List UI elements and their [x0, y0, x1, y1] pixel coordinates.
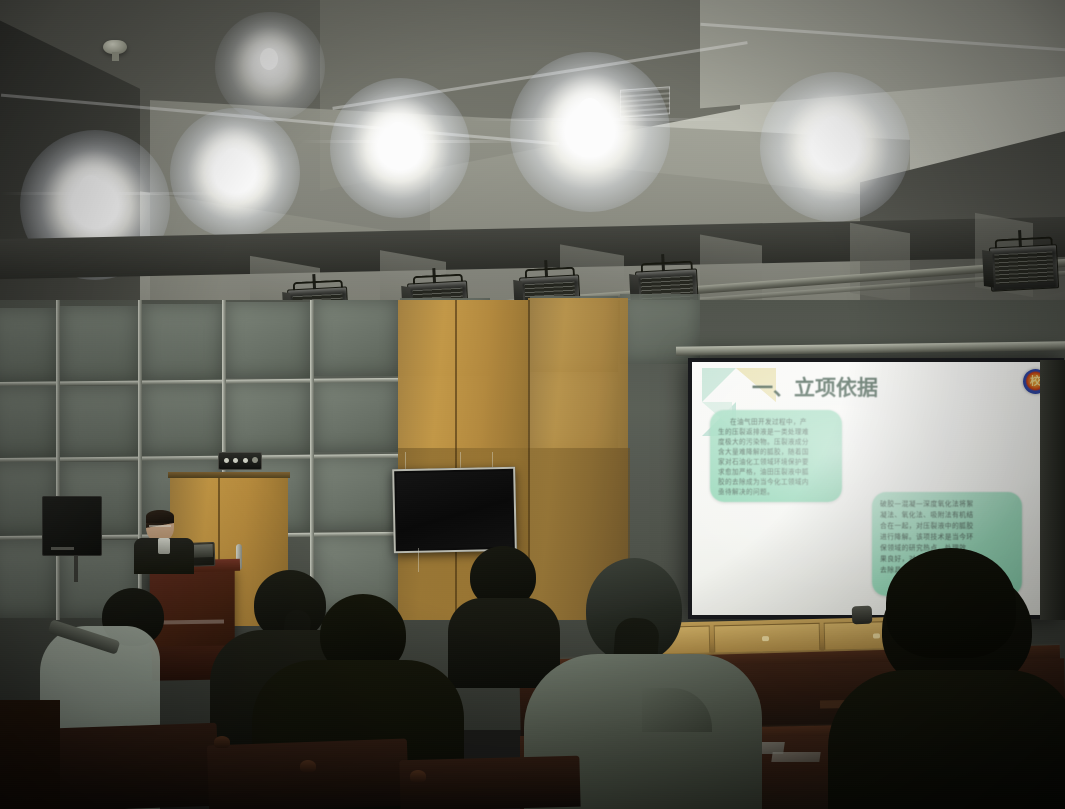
right-side-wall [1040, 360, 1065, 620]
acoustic-panel [142, 384, 222, 456]
smoke-detector-stem [112, 52, 119, 61]
presenter [134, 510, 194, 570]
seat-knob [214, 736, 230, 748]
ceiling-light-3-core [386, 122, 410, 154]
acoustic-panel [60, 306, 138, 382]
slide-text-line: 家对石油化工领域环境保护要 [718, 457, 834, 467]
acoustic-panel [142, 304, 222, 380]
paper-sheet [771, 752, 820, 762]
tv-wire-bottom [418, 548, 419, 572]
slide-text-line: 进行降解。该项技术是当今环 [880, 532, 1014, 543]
slide-text-line: 在油气田开发过程中，产 [718, 417, 834, 427]
ceiling-vent [620, 86, 670, 117]
slide-text-line: 破胶—混凝—深度氧化法将絮 [880, 499, 1014, 510]
acoustic-panel [0, 386, 56, 458]
ceiling-light-5-core [820, 116, 846, 150]
seat-back [207, 739, 409, 809]
ceiling-light-6-core [260, 48, 278, 70]
wall-control-panel[interactable] [218, 452, 262, 470]
slide-text-line: 含大量难降解的胍胶，随着国 [718, 447, 834, 457]
acoustic-panel [226, 302, 310, 378]
acoustic-panel [314, 300, 398, 376]
slide-text-line: 凝法、氧化法、吸附法有机结 [880, 510, 1014, 521]
wall-trim [56, 300, 60, 620]
conference-hall-photo: 一、立项依据 校 在油气田开发过程中，产 生的压裂返排液是一类处理难 度极大的污… [0, 0, 1065, 809]
drawer-knob[interactable] [762, 636, 769, 641]
control-indicator [224, 458, 229, 463]
slide-text-line: 度极大的污染物。压裂液成分 [718, 437, 834, 447]
audience-head-occluding-screen [886, 548, 1016, 658]
speaker-badge [51, 547, 74, 550]
slide-text-line: 胶的去除成为当今化工领域内 [718, 477, 834, 487]
acoustic-panel [314, 456, 398, 530]
ceiling-light-4-core [576, 98, 604, 136]
wall-mounted-tv[interactable] [392, 467, 517, 554]
acoustic-panel [314, 380, 398, 452]
slide-text-line: 亟待解决的问题。 [718, 487, 834, 497]
slide-textbox-background: 在油气田开发过程中，产 生的压裂返排液是一类处理难 度极大的污染物。压裂液成分 … [710, 410, 842, 502]
control-indicator [233, 458, 238, 463]
control-indicator [252, 457, 258, 463]
slide-title: 一、立项依据 [752, 372, 878, 402]
control-indicator [243, 458, 248, 463]
stage-light-5-body [989, 244, 1059, 291]
acoustic-panel [226, 382, 310, 454]
seat-back [399, 756, 580, 809]
slide-text-line: 求愈加严格，油田压裂液中胍 [718, 467, 834, 477]
seat-knob [300, 760, 316, 772]
tv-screen [396, 471, 513, 549]
presenter-glasses-icon [149, 525, 171, 527]
stage-light-5-louvre [994, 251, 1053, 284]
acoustic-panel [60, 386, 138, 458]
ceiling-light-2-core [222, 148, 244, 178]
slide-text-line: 生的压裂返排液是一类处理难 [718, 427, 834, 437]
audience-shoulders [828, 670, 1065, 809]
ceiling-light-1-core [78, 175, 104, 209]
stage-light-5[interactable] [989, 244, 1057, 289]
slide-text-line: 合在一起，对压裂液中的胍胶 [880, 521, 1014, 532]
ceiling-beam-5 [850, 223, 910, 304]
wall-speaker [42, 496, 102, 556]
stage-light-5-barndoor [982, 250, 994, 288]
presenter-shirt [158, 538, 170, 554]
acoustic-panel [0, 308, 56, 382]
decor-triangle-teal-upper [702, 368, 736, 402]
seat-front-left [0, 700, 60, 809]
seat-knob [410, 770, 426, 782]
door-header [168, 472, 290, 478]
presenter-hair [146, 510, 174, 523]
